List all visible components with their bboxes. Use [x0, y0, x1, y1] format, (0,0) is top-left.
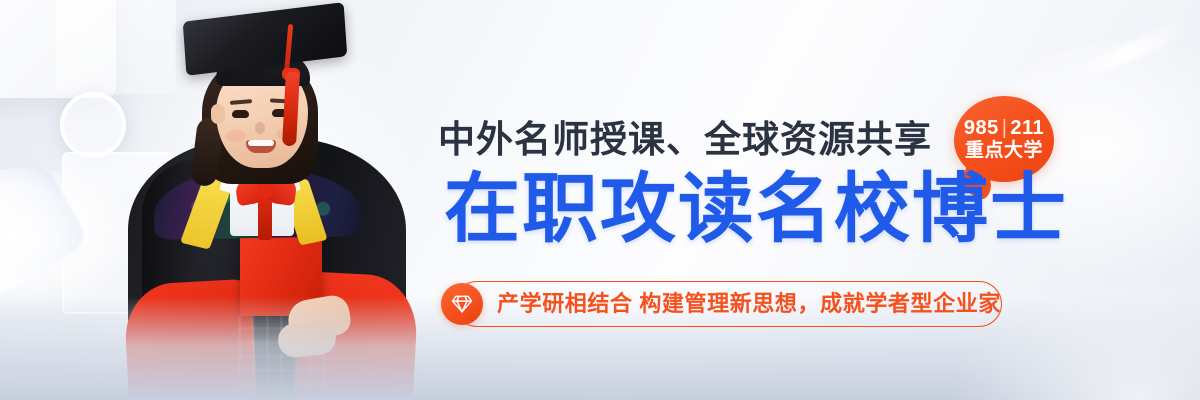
mouth — [246, 140, 276, 153]
badge-line-one: 985|211 — [964, 117, 1044, 139]
tagline-capsule: 产学研相结合 构建管理新思想，成就学者型企业家 — [454, 281, 1002, 327]
nose — [255, 122, 265, 134]
decor-circle-ring — [60, 92, 126, 158]
diamond-gem-icon — [441, 283, 483, 325]
cheek-left — [226, 130, 246, 142]
bowtie-knot — [258, 182, 272, 198]
eye-left — [232, 110, 249, 118]
teeth — [248, 140, 274, 146]
bowtie-tail — [258, 196, 272, 240]
badge-line-two: 重点大学 — [965, 140, 1043, 161]
badge-separator: | — [1002, 117, 1008, 139]
tagline-text: 产学研相结合 构建管理新思想，成就学者型企业家 — [497, 293, 1001, 315]
promo-banner: 中外名师授课、全球资源共享 985|211 重点大学 在职攻读名校博士 产学研相… — [0, 0, 1200, 400]
banner-headline: 在职攻读名校博士 — [444, 172, 1068, 248]
banner-subheading: 中外名师授课、全球资源共享 — [438, 121, 932, 158]
ear — [211, 104, 225, 124]
badge-985-label: 985 — [964, 117, 999, 139]
banner-content: 中外名师授课、全球资源共享 985|211 重点大学 在职攻读名校博士 产学研相… — [438, 0, 1058, 400]
badge-211-label: 211 — [1010, 117, 1044, 139]
mortarboard-button — [276, 20, 288, 32]
